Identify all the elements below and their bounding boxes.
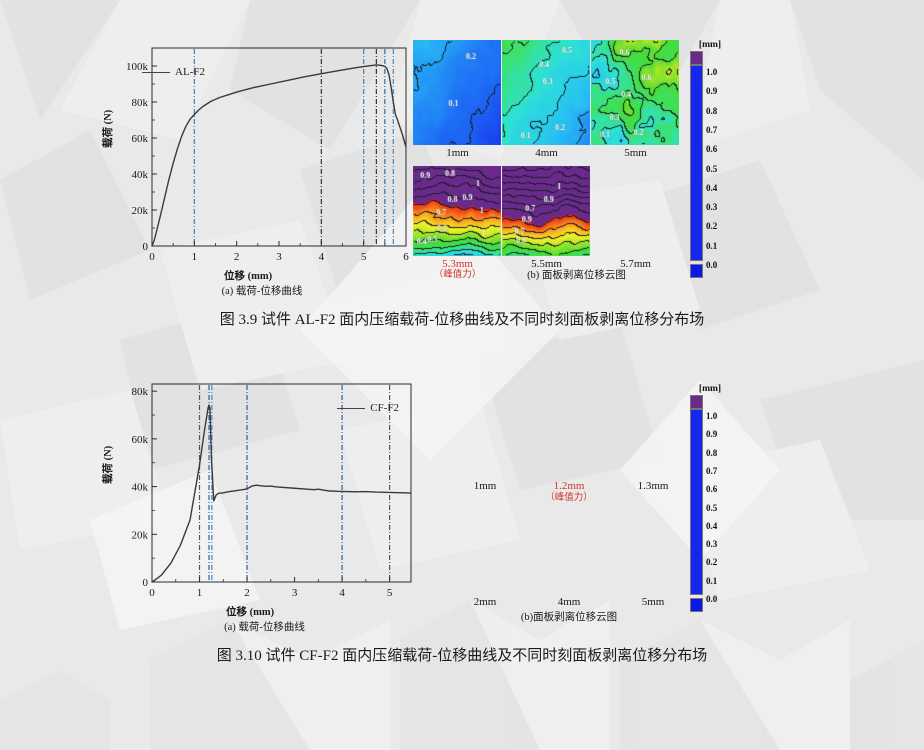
- figure-3-9: 0123456020k40k60k80k100k AL-F2 位移 (mm) 载…: [0, 0, 924, 300]
- legend-line-swatch: [142, 72, 170, 73]
- colorbar-tick: 0.1: [706, 241, 717, 251]
- y-axis-title: 载荷 (N): [100, 110, 115, 148]
- panel-label: 1mm: [443, 480, 527, 504]
- svg-text:3: 3: [276, 251, 282, 263]
- chart-sub-caption: (a) 载荷-位移曲线: [112, 283, 412, 298]
- cloud-row-2-labels: 2mm 4mm 5mm: [443, 596, 695, 609]
- svg-text:20k: 20k: [132, 529, 149, 541]
- chart-sub-caption: (a) 载荷-位移曲线: [112, 619, 417, 634]
- svg-text:2: 2: [234, 251, 240, 263]
- panel-label-text: 1.2mm: [554, 480, 585, 492]
- svg-text:1: 1: [192, 251, 198, 263]
- colorbar-tick: 0.6: [706, 144, 717, 154]
- cloud-panel: [611, 510, 694, 594]
- panel-label: 1mm: [413, 147, 502, 160]
- colorbar-tick: 0.8: [706, 106, 717, 116]
- svg-text:5: 5: [361, 251, 367, 263]
- colorbar-tick: 0.4: [706, 183, 717, 193]
- cloud-row-1: [443, 384, 695, 478]
- cloud-row-1-labels: 1mm 4mm 5mm: [413, 147, 684, 160]
- panel-label-peak: 1.2mm （峰值力）: [527, 480, 611, 504]
- panel-label: 1.3mm: [611, 480, 695, 504]
- svg-text:3: 3: [292, 587, 298, 599]
- colorbar-tick: 1.0: [706, 67, 717, 77]
- colorbar-tick: 0.5: [706, 164, 717, 174]
- cloud-row-1: [413, 40, 684, 145]
- cloud-panel: [443, 384, 526, 478]
- svg-text:0: 0: [149, 587, 155, 599]
- colorbar-tick: 0.0: [706, 260, 717, 270]
- panel-label-peak: 5.3mm （峰值力）: [413, 258, 502, 282]
- colorbar-tick: 0.9: [706, 429, 717, 439]
- al-f2-cloud-maps: 1mm 4mm 5mm 5.3mm （峰值力） 5.5mm 5.7mm (b) …: [413, 40, 684, 282]
- colorbar-tick: 0.7: [706, 466, 717, 476]
- cloud-panel: [591, 40, 679, 145]
- colorbar-fig39: [mm] 1.00.90.80.70.60.50.40.30.20.10.0: [690, 40, 730, 278]
- panel-label-sub: （峰值力）: [413, 270, 502, 281]
- svg-text:4: 4: [339, 587, 345, 599]
- cloud-row-2: [413, 166, 684, 256]
- panel-label: 5mm: [611, 596, 695, 609]
- svg-text:6: 6: [403, 251, 409, 263]
- colorbar-tick: 0.3: [706, 539, 717, 549]
- figure-3-10: 012345020k40k60k80k CF-F2 位移 (mm) 载荷 (N)…: [0, 370, 924, 650]
- cloud-panel: [591, 166, 679, 256]
- svg-text:80k: 80k: [132, 386, 149, 398]
- legend-line-swatch: [337, 408, 365, 409]
- colorbar-tick: 1.0: [706, 411, 717, 421]
- colorbar-tick: 0.4: [706, 521, 717, 531]
- colorbar-title: [mm]: [690, 384, 730, 394]
- colorbar-tick: 0.2: [706, 221, 717, 231]
- cloud-panel: [527, 384, 610, 478]
- panel-label: 4mm: [502, 147, 591, 160]
- cf-f2-load-displacement-chart: 012345020k40k60k80k CF-F2 位移 (mm) 载荷 (N)…: [112, 376, 417, 631]
- cloud-panel: [413, 40, 501, 145]
- colorbar-title: [mm]: [690, 40, 730, 50]
- panel-label-text: 5.3mm: [442, 258, 473, 270]
- svg-text:1: 1: [197, 587, 203, 599]
- chart-legend: AL-F2: [142, 66, 205, 78]
- colorbar-tick: 0.1: [706, 576, 717, 586]
- al-f2-load-displacement-chart: 0123456020k40k60k80k100k AL-F2 位移 (mm) 载…: [112, 40, 412, 295]
- cloud-row-2: [443, 510, 695, 594]
- svg-text:4: 4: [319, 251, 325, 263]
- cloud-panel: [502, 166, 590, 256]
- colorbar-tick: 0.6: [706, 484, 717, 494]
- svg-text:40k: 40k: [132, 169, 149, 181]
- svg-text:0: 0: [143, 577, 149, 589]
- colorbar-tick: 0.8: [706, 448, 717, 458]
- colorbar-tick: 0.9: [706, 86, 717, 96]
- svg-text:2: 2: [244, 587, 250, 599]
- cloud-sub-caption: (b)面板剥离位移云图: [443, 609, 695, 624]
- colorbar-tick: 0.0: [706, 594, 717, 604]
- svg-text:5: 5: [387, 587, 393, 599]
- cf-f2-cloud-maps: 1mm 1.2mm （峰值力） 1.3mm 2mm 4mm 5mm (b)面板剥…: [443, 384, 695, 624]
- svg-text:80k: 80k: [132, 97, 149, 109]
- colorbar-fig310: [mm] 1.00.90.80.70.60.50.40.30.20.10.0: [690, 384, 730, 612]
- colorbar-tick: 0.7: [706, 125, 717, 135]
- colorbar-tick: 0.2: [706, 557, 717, 567]
- cloud-row-1-labels: 1mm 1.2mm （峰值力） 1.3mm: [443, 480, 695, 504]
- colorbar-tick: 0.5: [706, 503, 717, 513]
- figure-caption: 图 3.9 试件 AL-F2 面内压缩载荷-位移曲线及不同时刻面板剥离位移分布场: [0, 308, 924, 329]
- svg-text:60k: 60k: [132, 434, 149, 446]
- chart-legend: CF-F2: [337, 402, 399, 414]
- cloud-panel: [611, 384, 694, 478]
- svg-text:60k: 60k: [132, 133, 149, 145]
- panel-label-sub: （峰值力）: [527, 493, 611, 504]
- figure-caption: 图 3.10 试件 CF-F2 面内压缩载荷-位移曲线及不同时刻面板剥离位移分布…: [0, 644, 924, 665]
- panel-label: 4mm: [527, 596, 611, 609]
- x-axis-title: 位移 (mm): [224, 268, 272, 283]
- svg-text:0: 0: [149, 251, 155, 263]
- cloud-panel: [443, 510, 526, 594]
- legend-label: CF-F2: [370, 402, 399, 414]
- cloud-panel: [502, 40, 590, 145]
- cloud-panel: [527, 510, 610, 594]
- x-axis-title: 位移 (mm): [226, 604, 274, 619]
- svg-text:40k: 40k: [132, 482, 149, 494]
- y-axis-title: 载荷 (N): [100, 446, 115, 484]
- colorbar-tick: 0.3: [706, 202, 717, 212]
- svg-text:0: 0: [143, 241, 149, 253]
- panel-label: 2mm: [443, 596, 527, 609]
- panel-label: 5mm: [591, 147, 680, 160]
- cloud-panel: [413, 166, 501, 256]
- svg-text:20k: 20k: [132, 205, 149, 217]
- legend-label: AL-F2: [175, 66, 205, 78]
